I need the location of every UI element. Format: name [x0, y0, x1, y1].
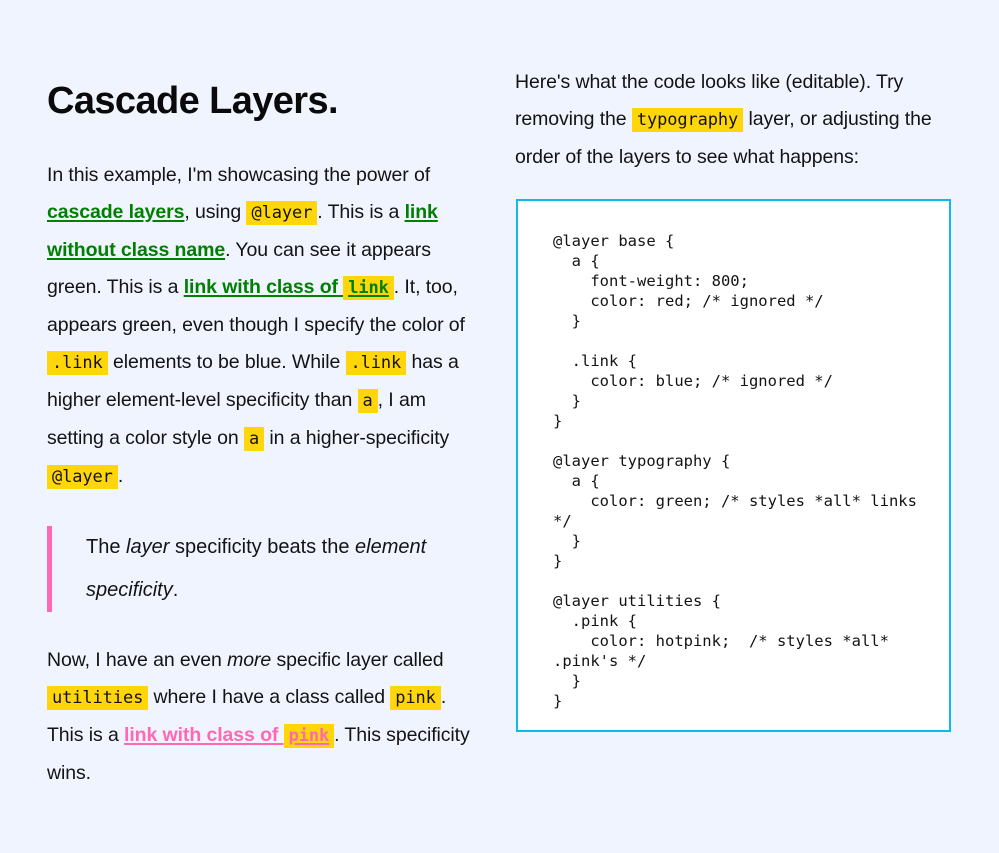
code-content[interactable]: @layer base { a { font-weight: 800; colo… — [518, 201, 949, 731]
inline-code-atlayer-2: @layer — [47, 465, 118, 489]
link-label: link with class of — [184, 276, 344, 298]
link-cascade-layers[interactable]: cascade layers — [47, 201, 184, 223]
inline-code-link: link — [343, 276, 394, 300]
text-segment: Now, I have an even — [47, 649, 227, 671]
utilities-paragraph: Now, I have an even more specific layer … — [47, 642, 477, 792]
text-segment: where I have a class called — [148, 686, 390, 708]
page-root: Cascade Layers. In this example, I'm sho… — [0, 0, 999, 853]
text-segment: , using — [184, 201, 246, 223]
text-segment: . — [173, 579, 179, 601]
text-segment: elements to be blue. While — [108, 351, 346, 373]
link-with-class-of-link[interactable]: link with class of link — [184, 276, 394, 298]
right-column: Here's what the code looks like (editabl… — [515, 64, 952, 176]
inline-code-a-2: a — [244, 427, 264, 451]
code-intro-paragraph: Here's what the code looks like (editabl… — [515, 64, 952, 176]
intro-paragraph: In this example, I'm showcasing the powe… — [47, 157, 477, 496]
text-segment: in a higher-specificity — [264, 427, 449, 449]
blockquote-text: The layer specificity beats the element … — [86, 526, 477, 612]
inline-code-typography: typography — [632, 108, 743, 132]
inline-code-pink-link: pink — [284, 724, 335, 748]
inline-code-atlayer: @layer — [246, 201, 317, 225]
text-segment: specific layer called — [271, 649, 443, 671]
text-segment: . This is a — [317, 201, 404, 223]
inline-code-pink: pink — [390, 686, 441, 710]
text-segment: . — [118, 465, 123, 487]
text-segment: In this example, I'm showcasing the powe… — [47, 164, 430, 186]
inline-code-a-1: a — [358, 389, 378, 413]
blockquote-layer-specificity: The layer specificity beats the element … — [47, 526, 477, 612]
left-column: Cascade Layers. In this example, I'm sho… — [47, 80, 477, 792]
text-segment: The — [86, 536, 126, 558]
emphasis-more: more — [227, 649, 271, 671]
page-title: Cascade Layers. — [47, 80, 477, 123]
inline-code-dotlink-1: .link — [47, 351, 108, 375]
inline-code-dotlink-2: .link — [346, 351, 407, 375]
link-label: link with class of — [124, 724, 284, 746]
inline-code-utilities: utilities — [47, 686, 148, 710]
text-segment: specificity beats the — [169, 536, 355, 558]
link-with-class-of-pink[interactable]: link with class of pink — [124, 724, 334, 746]
editable-code-block[interactable]: @layer base { a { font-weight: 800; colo… — [516, 199, 951, 732]
emphasis-layer: layer — [126, 536, 169, 558]
